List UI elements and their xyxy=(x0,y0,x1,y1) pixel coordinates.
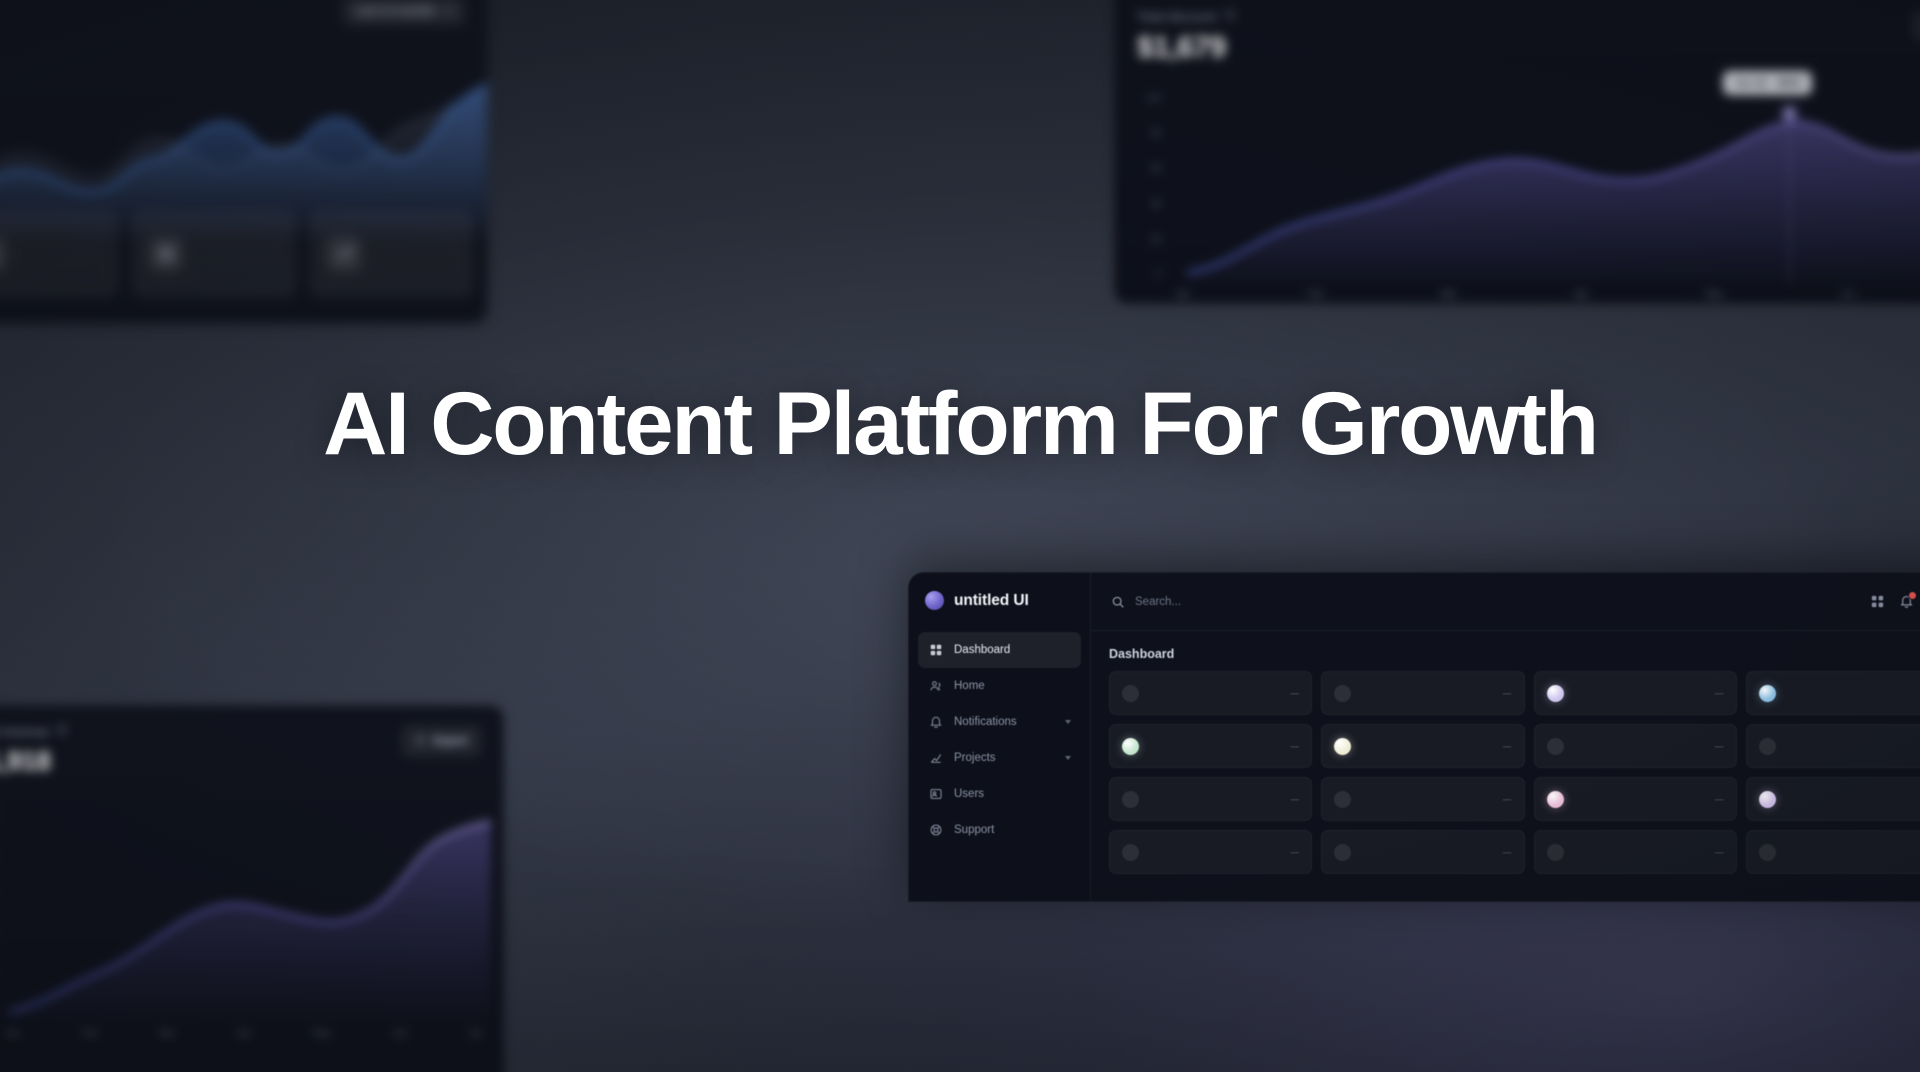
chart-highlight-point xyxy=(1784,108,1795,119)
sidebar: untitled UI DashboardHomeNotificationsPr… xyxy=(909,573,1091,901)
chevron-down-icon[interactable] xyxy=(1065,756,1071,760)
dashboard-card-grid: ———————————————— xyxy=(1091,671,1920,892)
bell-icon[interactable] xyxy=(1898,593,1915,610)
axis-tick: Jan xyxy=(1175,289,1190,300)
axis-tick: Feb xyxy=(1307,289,1323,300)
grid-card-avatar xyxy=(1759,844,1776,861)
sidebar-item-label: Notifications xyxy=(954,716,1054,728)
bottom-left-x-axis: JanFebMarAprMayJunJul xyxy=(5,1028,481,1039)
grid-card[interactable]: — xyxy=(1746,671,1920,715)
grid-card[interactable]: — xyxy=(1321,777,1524,821)
chart-icon xyxy=(928,751,943,766)
notification-badge xyxy=(1908,591,1917,600)
info-icon xyxy=(56,724,68,739)
axis-tick: 40 xyxy=(1135,199,1161,209)
users-icon xyxy=(928,679,943,694)
chart-tooltip-value: $842 xyxy=(1777,77,1800,89)
page-title: AI Content Platform For Growth xyxy=(0,376,1920,470)
axis-tick: 0 xyxy=(1135,269,1161,279)
grid-card-label: — xyxy=(1149,741,1299,751)
grid-card[interactable]: — xyxy=(1746,724,1920,768)
grid-card-avatar xyxy=(1547,844,1564,861)
grid-card-avatar xyxy=(1122,738,1139,755)
dashboard-page-title: Dashboard xyxy=(1091,631,1920,671)
sidebar-item-label: Dashboard xyxy=(954,644,1071,656)
grid-card-avatar xyxy=(1547,738,1564,755)
mock-card-top-right: Total discount $1,679 Export 10080604020… xyxy=(1114,0,1920,304)
pie-chart-icon xyxy=(149,237,183,271)
export-button-bottom-left[interactable]: Export xyxy=(402,726,481,756)
chart-tooltip: Jun 22 $842 xyxy=(1723,71,1812,95)
grid-card[interactable]: — xyxy=(1534,777,1737,821)
search-input[interactable]: Search... xyxy=(1109,593,1857,610)
sidebar-item-support[interactable]: Support xyxy=(918,812,1081,848)
topbar: Search... xyxy=(1091,573,1920,631)
top-left-area-chart xyxy=(0,47,488,237)
export-button-label: Export xyxy=(433,735,468,747)
grid-card[interactable]: — xyxy=(1109,777,1312,821)
grid-card[interactable]: — xyxy=(1109,671,1312,715)
sidebar-item-notifications[interactable]: Notifications xyxy=(918,704,1081,740)
axis-tick: Jul xyxy=(469,1028,481,1039)
axis-tick: 100 xyxy=(1135,93,1161,103)
axis-tick: 80 xyxy=(1135,128,1161,138)
sidebar-item-projects[interactable]: Projects xyxy=(918,740,1081,776)
grid-card[interactable]: — xyxy=(1746,777,1920,821)
grid-card-avatar xyxy=(1334,738,1351,755)
top-right-y-axis: 100806040200 xyxy=(1135,93,1161,279)
sidebar-item-dashboard[interactable]: Dashboard xyxy=(918,632,1081,668)
mock-card-top-left: Last 12 months xyxy=(0,0,488,324)
tooltip-guideline xyxy=(1789,113,1790,283)
grid-card-label: — xyxy=(1786,794,1920,804)
chevron-down-icon[interactable] xyxy=(1065,720,1071,724)
axis-tick: Jan xyxy=(5,1028,20,1039)
grid-card-avatar xyxy=(1334,685,1351,702)
grid-card-avatar xyxy=(1122,791,1139,808)
sidebar-item-users[interactable]: Users xyxy=(918,776,1081,812)
grid-card[interactable]: — xyxy=(1746,830,1920,874)
grid-card-avatar xyxy=(1547,791,1564,808)
axis-tick: May xyxy=(313,1028,331,1039)
grid-card-avatar xyxy=(1334,791,1351,808)
axis-tick: Apr xyxy=(237,1028,252,1039)
axis-tick: 20 xyxy=(1135,234,1161,244)
user-card-icon xyxy=(928,787,943,802)
sidebar-item-label: Support xyxy=(954,824,1071,836)
axis-tick: Mar xyxy=(159,1028,175,1039)
grid-card[interactable]: — xyxy=(1321,724,1524,768)
sidebar-nav: DashboardHomeNotificationsProjectsUsersS… xyxy=(909,632,1090,848)
chevron-down-icon xyxy=(445,9,453,14)
top-right-area-chart xyxy=(1167,91,1920,283)
sidebar-item-home[interactable]: Home xyxy=(918,668,1081,704)
search-placeholder: Search... xyxy=(1135,596,1181,608)
total-revenue-value: $1,918 xyxy=(0,746,51,777)
export-icon xyxy=(415,734,426,748)
chart-tooltip-label: Jun 22 xyxy=(1734,77,1767,89)
grid-card-label: — xyxy=(1149,794,1299,804)
total-discount-label: Total discount xyxy=(1137,9,1236,24)
axis-tick: Jun xyxy=(1841,289,1856,300)
grid-card-label: — xyxy=(1361,847,1511,857)
grid-card-label: — xyxy=(1786,688,1920,698)
grid-card-avatar xyxy=(1122,844,1139,861)
logo-mark-icon xyxy=(925,591,944,610)
dashboard-main: Search... Dashboard ———————————————— xyxy=(1091,573,1920,901)
grid-card[interactable]: — xyxy=(1109,724,1312,768)
timerange-dropdown[interactable]: Last 12 months xyxy=(343,0,465,25)
trend-up-icon xyxy=(327,237,361,271)
grid-card[interactable]: — xyxy=(1321,671,1524,715)
sidebar-item-label: Projects xyxy=(954,752,1054,764)
grid-card-label: — xyxy=(1574,688,1724,698)
grid-card-label: — xyxy=(1361,794,1511,804)
stat-tile-breakdown[interactable] xyxy=(132,211,295,297)
axis-tick: Apr xyxy=(1574,289,1589,300)
grid-card[interactable]: — xyxy=(1321,830,1524,874)
grid-card-avatar xyxy=(1334,844,1351,861)
grid-card-label: — xyxy=(1786,847,1920,857)
dashboard-mockup: untitled UI DashboardHomeNotificationsPr… xyxy=(908,572,1920,902)
grid-card-label: — xyxy=(1574,741,1724,751)
top-right-x-axis: JanFebMarAprMayJunJul xyxy=(1175,289,1920,300)
user-icon xyxy=(0,237,6,271)
axis-tick: 60 xyxy=(1135,163,1161,173)
grid-card-label: — xyxy=(1361,741,1511,751)
grid-card[interactable]: — xyxy=(1534,724,1737,768)
axis-tick: Feb xyxy=(82,1028,98,1039)
grid-card-avatar xyxy=(1759,791,1776,808)
info-icon xyxy=(1224,9,1236,24)
grid-card-avatar xyxy=(1122,685,1139,702)
bottom-left-area-chart xyxy=(1,808,491,1022)
grid-icon xyxy=(928,643,943,658)
top-left-stat-tiles xyxy=(0,211,487,297)
lifebuoy-icon xyxy=(928,823,943,838)
grid-card-label: — xyxy=(1149,688,1299,698)
total-discount-value: $1,679 xyxy=(1137,31,1226,65)
search-icon xyxy=(1109,593,1126,610)
brand-name: untitled UI xyxy=(954,592,1029,610)
grid-card-label: — xyxy=(1574,794,1724,804)
grid-card[interactable]: — xyxy=(1109,830,1312,874)
apps-grid-icon[interactable] xyxy=(1869,593,1886,610)
axis-tick: Mar xyxy=(1441,289,1457,300)
sidebar-item-label: Users xyxy=(954,788,1071,800)
axis-tick: Jun xyxy=(392,1028,407,1039)
grid-card-label: — xyxy=(1149,847,1299,857)
grid-card-avatar xyxy=(1759,738,1776,755)
stat-tile-users[interactable] xyxy=(0,211,118,297)
grid-card-label: — xyxy=(1574,847,1724,857)
grid-card-label: — xyxy=(1786,741,1920,751)
sidebar-item-label: Home xyxy=(954,680,1071,692)
total-revenue-label: Total revenue xyxy=(0,724,68,739)
axis-tick: May xyxy=(1706,289,1724,300)
grid-card-label: — xyxy=(1361,688,1511,698)
stat-tile-growth[interactable] xyxy=(310,211,473,297)
grid-card[interactable]: — xyxy=(1534,830,1737,874)
grid-card-avatar xyxy=(1547,685,1564,702)
timerange-dropdown-label: Last 12 months xyxy=(355,5,436,17)
grid-card[interactable]: — xyxy=(1534,671,1737,715)
bell-icon xyxy=(928,715,943,730)
export-button-top-right[interactable]: Export xyxy=(1912,11,1920,41)
brand-logo[interactable]: untitled UI xyxy=(909,573,1090,610)
mock-card-bottom-left: Total revenue $1,918 Export 100806040200 xyxy=(0,705,504,1072)
grid-card-avatar xyxy=(1759,685,1776,702)
